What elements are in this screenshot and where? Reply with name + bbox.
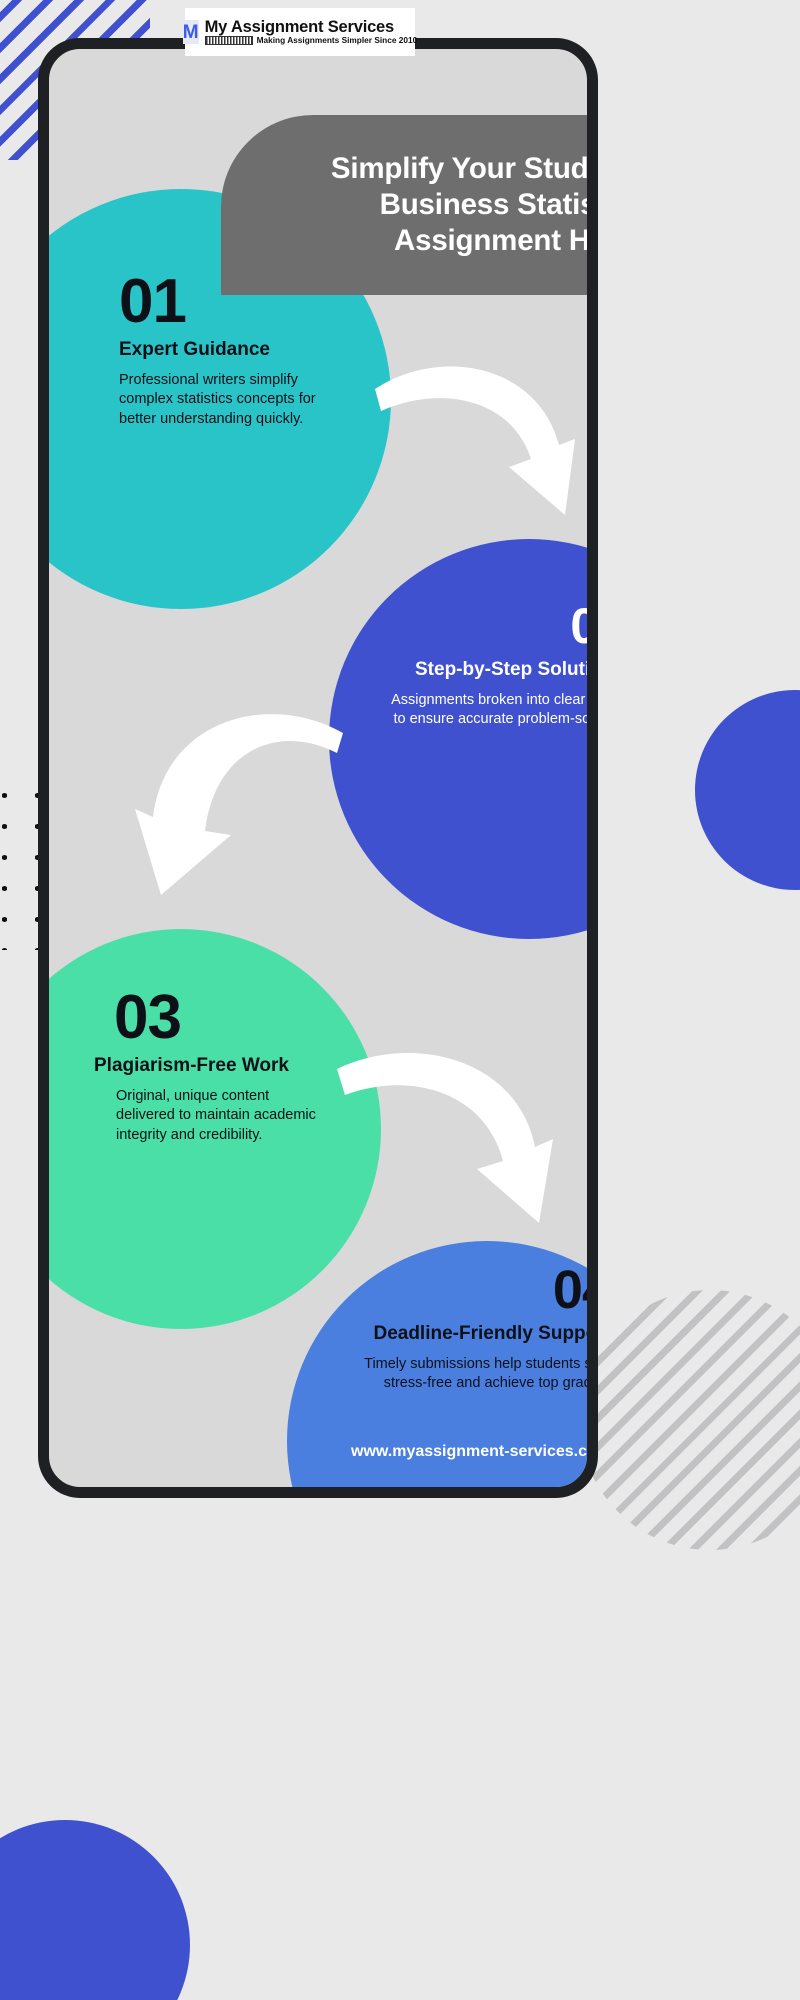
step-1-heading: Expert Guidance: [119, 339, 369, 362]
barcode-icon: [205, 36, 253, 45]
step-4-heading: Deadline-Friendly Support: [319, 1323, 587, 1346]
step-4-content: 04 Deadline-Friendly Support Timely subm…: [319, 1263, 587, 1394]
step-2-heading: Step-by-Step Solutions: [379, 659, 587, 682]
step-2-circle: [329, 539, 587, 939]
logo-mark-icon: M: [183, 20, 199, 44]
step-3-content: 03 Plagiarism-Free Work Original, unique…: [94, 987, 369, 1145]
step-2-number: 02: [379, 601, 587, 651]
step-3-heading: Plagiarism-Free Work: [94, 1055, 369, 1078]
blue-circle-bottom-left-decoration: [0, 1820, 190, 2000]
step-1-body: Professional writers simplify complex st…: [119, 371, 354, 430]
step-2-body: Assignments broken into clear steps to e…: [379, 691, 587, 730]
logo-text-block: My Assignment Services Making Assignment…: [205, 19, 418, 45]
brand-logo[interactable]: M My Assignment Services Making Assignme…: [185, 8, 415, 56]
phone-screen: Simplify Your Studies with Business Stat…: [49, 49, 587, 1487]
logo-title: My Assignment Services: [205, 19, 418, 36]
website-url[interactable]: www.myassignment-services.com: [249, 1443, 587, 1461]
page-title: Simplify Your Studies with Business Stat…: [318, 151, 587, 259]
logo-tagline-row: Making Assignments Simpler Since 2010: [205, 36, 418, 45]
arrow-step1-to-step2: [369, 341, 587, 561]
phone-frame: Simplify Your Studies with Business Stat…: [38, 38, 598, 1498]
step-2-content: 02 Step-by-Step Solutions Assignments br…: [379, 601, 587, 730]
step-4-body: Timely submissions help students stay st…: [319, 1355, 587, 1394]
step-3-body: Original, unique content delivered to ma…: [116, 1087, 326, 1146]
infographic-page: Simplify Your Studies with Business Stat…: [0, 0, 800, 2000]
logo-tagline: Making Assignments Simpler Since 2010: [257, 36, 418, 45]
blue-circle-right-decoration: [695, 690, 800, 890]
diagonal-stripes-right-decoration: [580, 1290, 800, 1550]
header-banner: Simplify Your Studies with Business Stat…: [221, 115, 587, 295]
arrow-step2-to-step3: [119, 677, 349, 937]
arrow-step3-to-step4: [331, 1029, 571, 1259]
step-4-number: 04: [319, 1263, 587, 1317]
